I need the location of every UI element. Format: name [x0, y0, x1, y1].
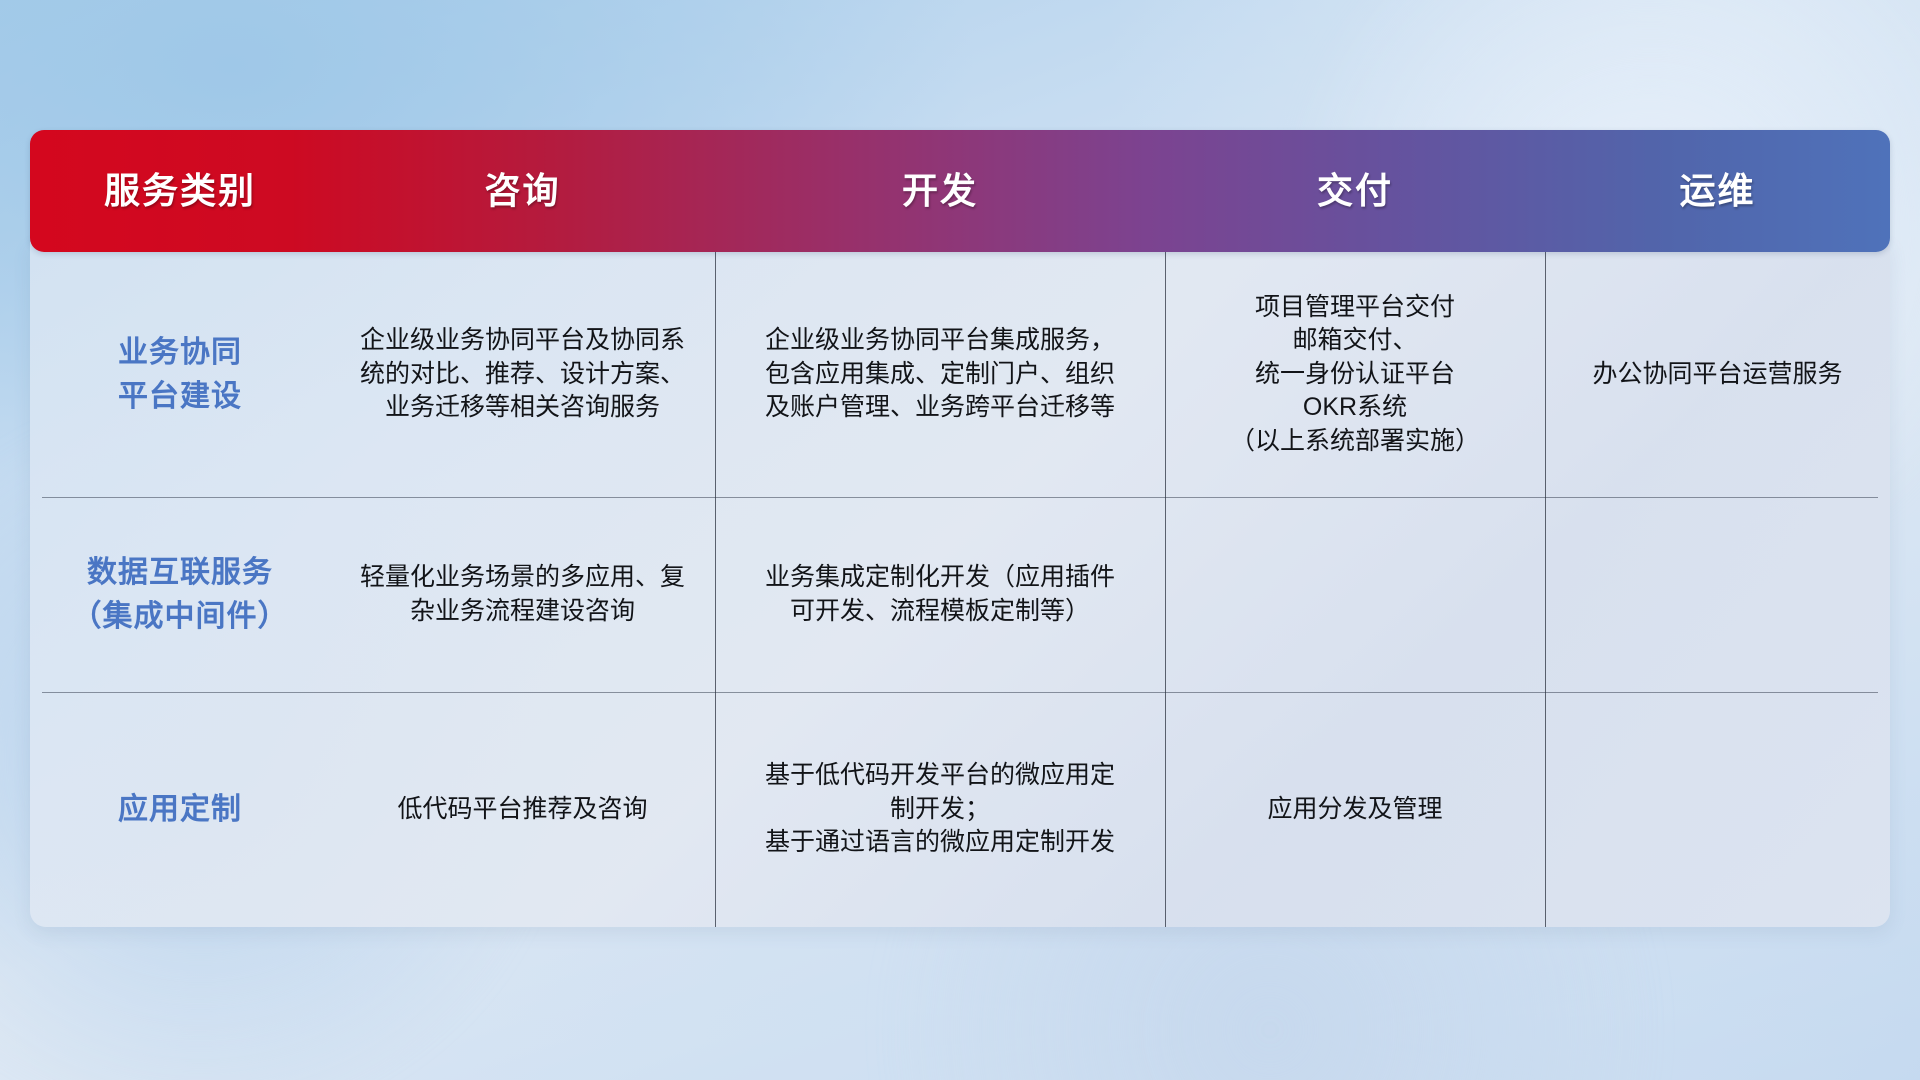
table-row: 业务协同 平台建设 企业级业务协同平台及协同系 统的对比、推荐、设计方案、 业务…	[30, 252, 1890, 497]
cell-operations: 办公协同平台运营服务	[1545, 252, 1890, 497]
row-category-label: 数据互联服务 （集成中间件）	[30, 497, 330, 692]
table-body: 业务协同 平台建设 企业级业务协同平台及协同系 统的对比、推荐、设计方案、 业务…	[30, 242, 1890, 927]
table-header-row: 服务类别 咨询 开发 交付 运维	[30, 130, 1890, 252]
cell-operations	[1545, 497, 1890, 692]
column-header-development: 开发	[715, 173, 1165, 209]
row-category-label: 业务协同 平台建设	[30, 252, 330, 497]
table-row: 数据互联服务 （集成中间件） 轻量化业务场景的多应用、复 杂业务流程建设咨询 业…	[30, 497, 1890, 692]
cell-development: 业务集成定制化开发（应用插件 可开发、流程模板定制等）	[715, 497, 1165, 692]
cell-delivery: 应用分发及管理	[1165, 692, 1545, 927]
column-header-consulting: 咨询	[330, 173, 715, 209]
column-header-delivery: 交付	[1165, 173, 1545, 209]
cell-development: 基于低代码开发平台的微应用定 制开发； 基于通过语言的微应用定制开发	[715, 692, 1165, 927]
column-header-category: 服务类别	[30, 173, 330, 209]
cell-consulting: 轻量化业务场景的多应用、复 杂业务流程建设咨询	[330, 497, 715, 692]
column-header-operations: 运维	[1545, 173, 1890, 209]
cell-consulting: 企业级业务协同平台及协同系 统的对比、推荐、设计方案、 业务迁移等相关咨询服务	[330, 252, 715, 497]
cell-delivery	[1165, 497, 1545, 692]
table-row: 应用定制 低代码平台推荐及咨询 基于低代码开发平台的微应用定 制开发； 基于通过…	[30, 692, 1890, 927]
row-category-label: 应用定制	[30, 692, 330, 927]
cell-delivery: 项目管理平台交付 邮箱交付、 统一身份认证平台 OKR系统 （以上系统部署实施）	[1165, 252, 1545, 497]
service-matrix-table: 服务类别 咨询 开发 交付 运维 业务协同 平台建设 企业级业务协同平台及协同系…	[30, 130, 1890, 927]
cell-consulting: 低代码平台推荐及咨询	[330, 692, 715, 927]
cell-operations	[1545, 692, 1890, 927]
cell-development: 企业级业务协同平台集成服务， 包含应用集成、定制门户、组织 及账户管理、业务跨平…	[715, 252, 1165, 497]
